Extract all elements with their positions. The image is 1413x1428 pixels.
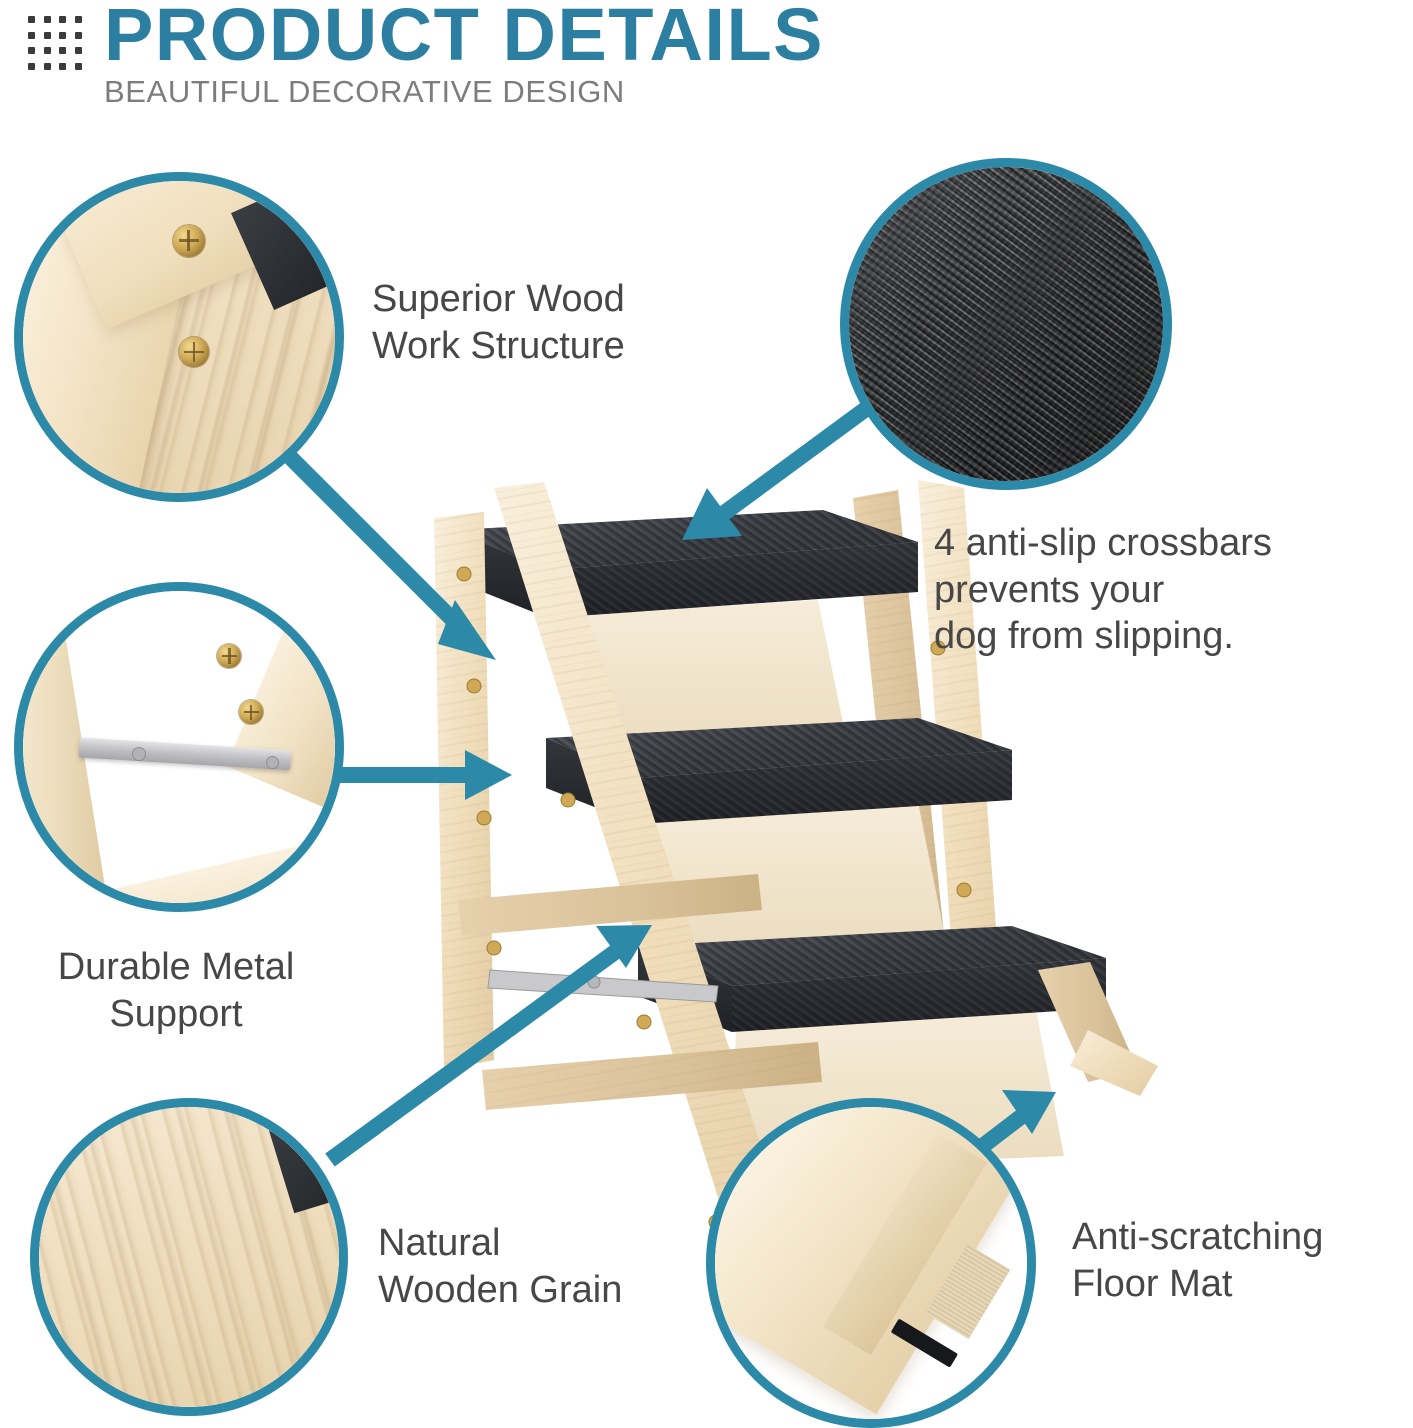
page-subtitle: BEAUTIFUL DECORATIVE DESIGN (104, 74, 625, 110)
label-line: Support (0, 991, 352, 1038)
label-line: Work Structure (372, 323, 752, 370)
page-title: PRODUCT DETAILS (104, 0, 824, 74)
metal-brace-support-bar-closeup (23, 591, 335, 903)
label-line: Superior Wood (372, 276, 752, 323)
dark-gray-ribbed-carpet-texture-closeup (849, 167, 1163, 481)
callout-circle-durable-metal-support (14, 582, 344, 912)
label-line: dog from slipping. (934, 613, 1404, 660)
natural-pine-wood-grain-closeup (39, 1107, 339, 1407)
callout-circle-natural-wooden-grain (30, 1098, 348, 1416)
label-line: 4 anti-slip crossbars (934, 520, 1404, 567)
screw-icon (173, 225, 205, 257)
wooden-leg-foot-with-black-floor-mat-closeup (715, 1107, 1027, 1419)
label-natural-wooden-grain: Natural Wooden Grain (378, 1220, 708, 1313)
callout-circle-anti-slip-crossbars (840, 158, 1172, 490)
label-line: Floor Mat (1072, 1261, 1412, 1308)
dot-grid-icon (24, 12, 86, 74)
screw-icon (179, 337, 209, 367)
label-line: Durable Metal (0, 944, 352, 991)
label-line: prevents your (934, 567, 1404, 614)
label-line: Wooden Grain (378, 1267, 708, 1314)
label-line: Natural (378, 1220, 708, 1267)
label-durable-metal-support: Durable Metal Support (0, 944, 352, 1037)
infographic-canvas: PRODUCT DETAILS BEAUTIFUL DECORATIVE DES… (0, 0, 1413, 1428)
header: PRODUCT DETAILS BEAUTIFUL DECORATIVE DES… (0, 0, 1413, 130)
wood-joint-with-brass-screws-closeup (23, 181, 335, 493)
label-anti-slip-crossbars: 4 anti-slip crossbars prevents your dog … (934, 520, 1404, 660)
callout-circle-anti-scratching-floor-mat (706, 1098, 1036, 1428)
label-anti-scratching-floor-mat: Anti-scratching Floor Mat (1072, 1214, 1412, 1307)
screw-icon (217, 644, 241, 668)
label-line: Anti-scratching (1072, 1214, 1412, 1261)
label-superior-wood-work-structure: Superior Wood Work Structure (372, 276, 752, 369)
callout-circle-superior-wood-work-structure (14, 172, 344, 502)
